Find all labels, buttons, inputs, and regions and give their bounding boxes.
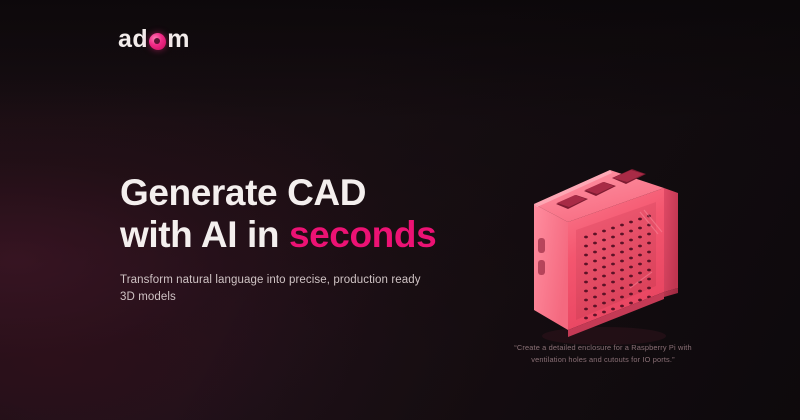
headline-accent-word: seconds [289,214,436,255]
headline-line-2-prefix: with AI in [120,214,289,255]
raspberry-pi-enclosure-model [512,160,698,350]
model-render-area: “Create a detailed enclosure for a Raspb… [498,160,708,390]
hero-copy: Generate CAD with AI in seconds Transfor… [120,172,450,306]
logo-text-before: ad [118,27,148,52]
hero-subtitle: Transform natural language into precise,… [120,272,428,307]
logo-text-after: m [167,27,190,52]
logo-wordmark: adm [118,27,190,52]
enclosure-right-wall [664,188,678,292]
headline-line-1: Generate CAD [120,172,366,213]
page-title: Generate CAD with AI in seconds [120,172,450,256]
brand-logo[interactable]: adm [118,24,190,54]
hero-banner: adm Generate CAD with AI in seconds Tran… [0,0,800,420]
blob-dot-icon [149,33,166,50]
model-prompt-caption: “Create a detailed enclosure for a Raspb… [498,342,708,366]
